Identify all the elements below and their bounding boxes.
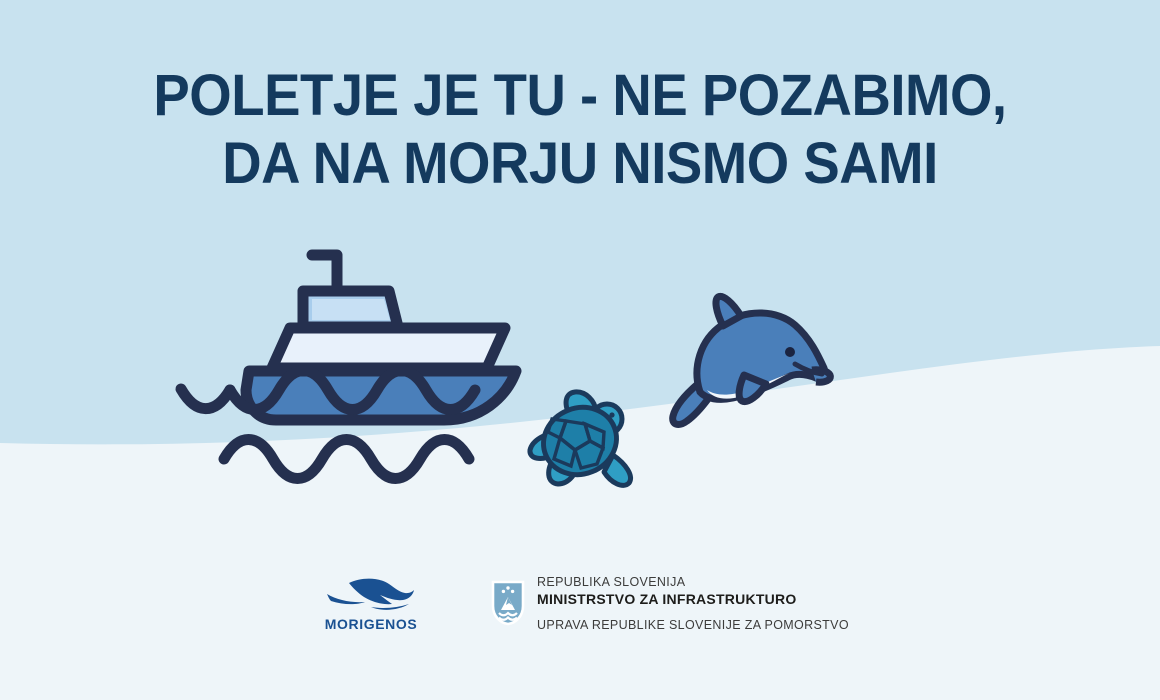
headline-line-2: DA NA MORJU NISMO SAMI: [35, 130, 1125, 198]
poster-canvas: POLETJE JE TU - NE POZABIMO, DA NA MORJU…: [0, 0, 1160, 700]
headline-line-1: POLETJE JE TU - NE POZABIMO,: [35, 62, 1125, 130]
morigenos-wordmark: MORIGENOS: [325, 616, 418, 632]
ministry-logo[interactable]: REPUBLIKA SLOVENIJA MINISTRSTVO ZA INFRA…: [491, 574, 849, 633]
ministry-text-block: REPUBLIKA SLOVENIJA MINISTRSTVO ZA INFRA…: [537, 574, 849, 633]
morigenos-logo[interactable]: MORIGENOS: [311, 574, 431, 632]
ministry-line-ministrstvo: MINISTRSTVO ZA INFRASTRUKTURO: [537, 590, 849, 608]
slovenia-coat-of-arms-icon: [491, 580, 525, 626]
dolphin-logo-icon: [325, 574, 417, 612]
footer-logos: MORIGENOS REPUBLIKA SLOVENIJA MINISTRSTV…: [0, 558, 1160, 648]
headline: POLETJE JE TU - NE POZABIMO, DA NA MORJU…: [0, 62, 1160, 198]
ministry-line-uprava: UPRAVA REPUBLIKE SLOVENIJE ZA POMORSTVO: [537, 617, 849, 633]
ministry-line-republika: REPUBLIKA SLOVENIJA: [537, 574, 849, 590]
